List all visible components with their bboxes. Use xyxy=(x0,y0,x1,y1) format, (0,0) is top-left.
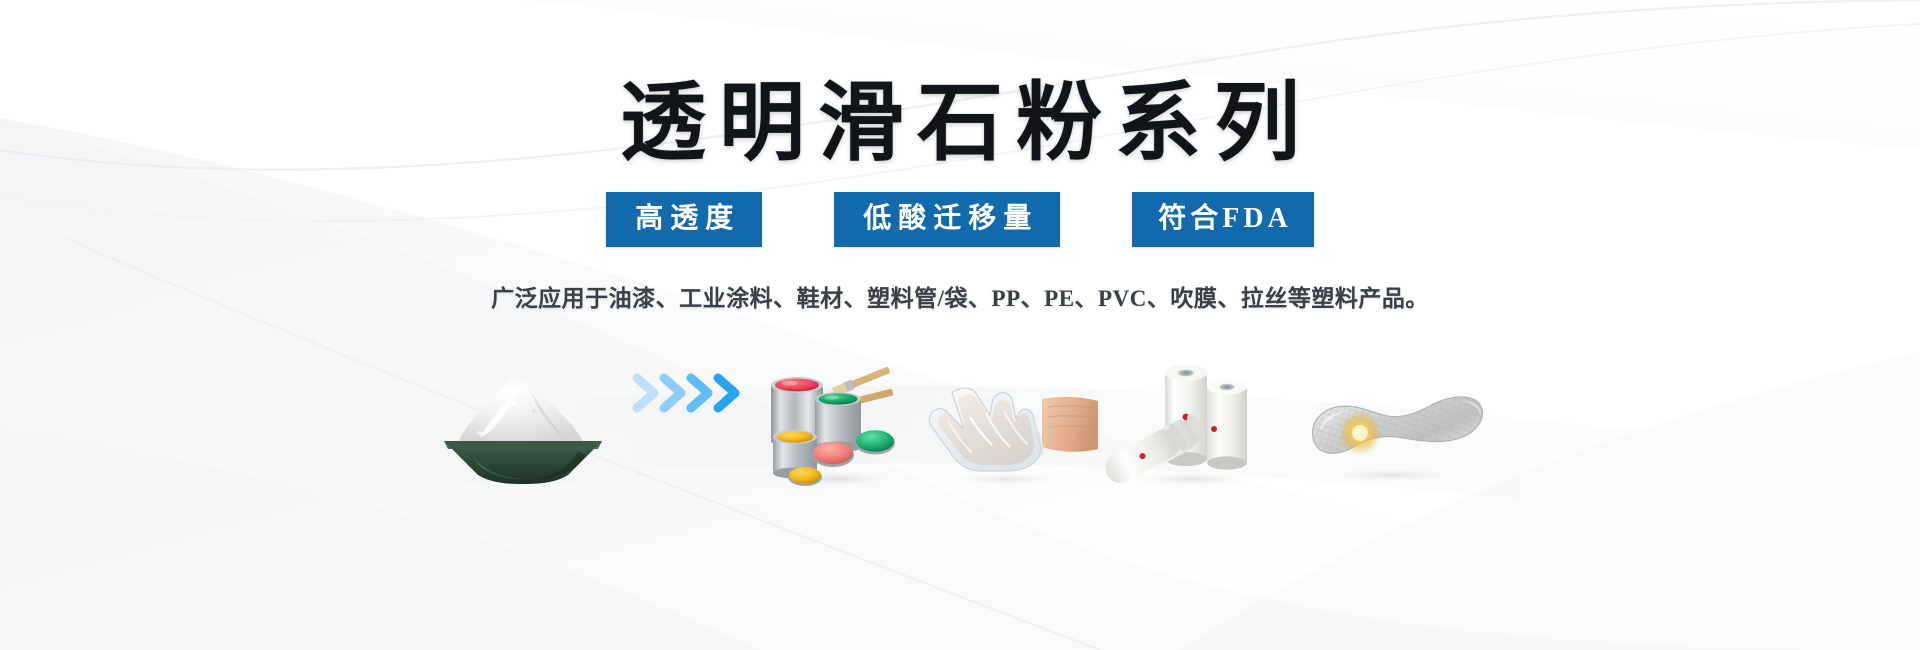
paint-surface-red xyxy=(775,379,819,392)
film-rolls-icon xyxy=(1103,355,1283,487)
shoe-sole-icon xyxy=(1288,367,1498,487)
sole-glow-core xyxy=(1352,425,1368,441)
film-roll-upright-right xyxy=(1207,380,1247,470)
lid-surface-orange xyxy=(789,467,821,484)
hand-shadow xyxy=(940,472,1072,486)
powder-grain xyxy=(477,431,481,435)
green-bowl-rim xyxy=(444,441,602,449)
chevron-right-icon-1 xyxy=(637,378,654,408)
paint-cans-icon xyxy=(763,349,913,487)
showcase-item-shoe-sole xyxy=(1285,337,1500,487)
forearm xyxy=(1042,397,1098,452)
talc-powder-heap xyxy=(458,372,584,443)
lid-surface-pink xyxy=(813,442,853,464)
plastic-glove xyxy=(929,388,1042,471)
showcase-item-plastic-film-rolls xyxy=(1100,337,1285,487)
powder-grain xyxy=(531,409,536,414)
chevron-right-icon-2 xyxy=(664,378,681,408)
paint-lid-orange xyxy=(788,467,822,486)
gloved-hand-icon xyxy=(918,365,1098,487)
paint-sheen xyxy=(825,396,839,400)
feature-badge-low-acid-migration: 低酸迁移量 xyxy=(834,192,1060,247)
roll-bottom xyxy=(1207,457,1247,470)
paint-sheen xyxy=(782,381,798,386)
chevron-right-icon-4 xyxy=(718,378,735,408)
roll-label-red xyxy=(1211,426,1217,432)
powder-grain xyxy=(548,429,552,433)
showcase-item-process-arrows xyxy=(625,337,760,487)
page-title: 透明滑石粉系列 xyxy=(607,78,1313,168)
chevron-right-icon-3 xyxy=(691,378,708,408)
sole-body-group xyxy=(1308,380,1487,466)
feature-badge-high-transparency: 高透度 xyxy=(606,192,762,247)
powder-grain xyxy=(511,401,516,406)
feature-badge-group: 高透度 低酸迁移量 符合FDA xyxy=(606,192,1314,247)
showcase-item-talc-powder-bowl xyxy=(420,337,625,487)
roll-core xyxy=(1178,370,1194,377)
paint-surface-yellow xyxy=(776,432,813,443)
can-body xyxy=(815,399,861,447)
application-description: 广泛应用于油漆、工业涂料、鞋材、塑料管/袋、PP、PE、PVC、吹膜、拉丝等塑料… xyxy=(491,279,1429,313)
showcase-item-paint-cans xyxy=(760,337,915,487)
talc-powder-bowl-icon xyxy=(428,359,618,487)
product-banner: 透明滑石粉系列 高透度 低酸迁移量 符合FDA 广泛应用于油漆、工业涂料、鞋材、… xyxy=(0,0,1920,650)
roll-core xyxy=(1219,384,1234,390)
brush-handle xyxy=(848,367,890,389)
glove-body xyxy=(929,388,1040,471)
showcase-item-gloved-hand xyxy=(915,337,1100,487)
lid-surface-green xyxy=(856,430,894,452)
sole-texture xyxy=(1308,380,1487,466)
paint-lid-green xyxy=(855,430,895,454)
powder-grain xyxy=(495,414,501,420)
paint-surface-green xyxy=(818,394,857,405)
banner-content: 透明滑石粉系列 高透度 低酸迁移量 符合FDA 广泛应用于油漆、工业涂料、鞋材、… xyxy=(0,0,1920,650)
sole-shadow xyxy=(1306,467,1478,483)
paint-lid-pink xyxy=(812,442,854,467)
product-showcase-row xyxy=(0,327,1920,487)
arrow-group xyxy=(630,370,756,416)
feature-badge-fda-compliant: 符合FDA xyxy=(1132,192,1314,247)
chevron-arrows-icon xyxy=(630,370,756,416)
roll-body xyxy=(1207,387,1247,463)
